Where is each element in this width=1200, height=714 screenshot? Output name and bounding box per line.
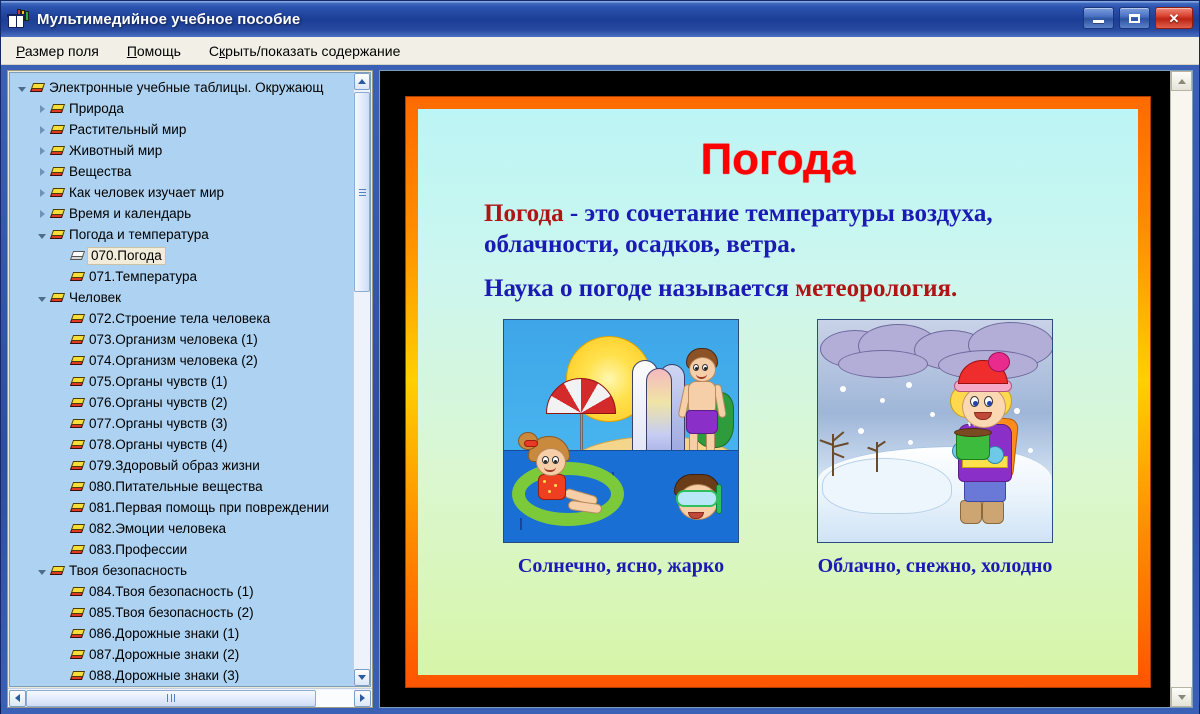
book-icon — [50, 229, 65, 241]
tree-item[interactable]: 078.Органы чувств (4) — [10, 434, 353, 455]
tree-item-label: 072.Строение тела человека — [89, 312, 270, 326]
tree-item-label: Как человек изучает мир — [69, 186, 224, 200]
chevron-up-icon — [1178, 79, 1186, 84]
book-icon — [70, 376, 85, 388]
tree-item-label: 078.Органы чувств (4) — [89, 438, 228, 452]
winter-caption: Облачно, снежно, холодно — [818, 555, 1053, 578]
book-icon — [50, 124, 65, 136]
contents-tree[interactable]: Электронные учебные таблицы. ОкружающПри… — [10, 73, 353, 686]
tree-scroll-down-button[interactable] — [354, 669, 370, 686]
tree-item-label: Погода и температура — [69, 228, 209, 242]
book-icon — [70, 544, 85, 556]
book-icon — [70, 481, 85, 493]
tree-hscroll-track[interactable] — [26, 690, 354, 707]
tree-item-label: Электронные учебные таблицы. Окружающ — [49, 81, 324, 95]
chevron-down-icon — [358, 675, 366, 680]
tree-item-label: 087.Дорожные знаки (2) — [89, 648, 239, 662]
tree-item-label: 075.Органы чувств (1) — [89, 375, 228, 389]
summer-caption: Солнечно, ясно, жарко — [518, 555, 724, 578]
book-icon — [70, 502, 85, 514]
close-icon: ✕ — [1169, 12, 1180, 25]
contents-panel: Электронные учебные таблицы. ОкружающПри… — [7, 70, 373, 708]
tree-vertical-scrollbar[interactable] — [353, 73, 370, 686]
tree-item[interactable]: Как человек изучает мир — [10, 182, 353, 203]
application-window: Мультимедийное учебное пособие ✕ Размер … — [0, 0, 1200, 703]
slide-viewer: Погода Погода - это сочетание температур… — [379, 70, 1193, 708]
slide-title: Погода — [701, 137, 856, 183]
window-controls: ✕ — [1083, 7, 1193, 29]
chevron-up-icon — [358, 79, 366, 84]
window-title: Мультимедийное учебное пособие — [37, 11, 300, 28]
tree-item-label: 070.Погода — [88, 248, 165, 264]
winter-snow-illustration — [817, 319, 1053, 543]
tree-item[interactable]: Электронные учебные таблицы. Окружающ — [10, 77, 353, 98]
tree-item-selected[interactable]: 070.Погода — [10, 245, 353, 266]
viewer-scroll-down-button[interactable] — [1171, 687, 1192, 707]
viewer-vertical-scrollbar[interactable] — [1170, 71, 1192, 707]
slide-paragraph-2: Наука о погоде называется метеорология. — [484, 274, 957, 305]
tree-item[interactable]: 084.Твоя безопасность (1) — [10, 581, 353, 602]
tree-item[interactable]: 082.Эмоции человека — [10, 518, 353, 539]
menu-field-size[interactable]: Размер поля — [13, 41, 102, 61]
open-book-icon — [70, 250, 85, 262]
tree-item-label: 071.Температура — [89, 270, 197, 284]
tree-scroll-track[interactable] — [354, 90, 370, 669]
tree-item-label: 080.Питательные вещества — [89, 480, 263, 494]
paragraph-1-highlight: Погода — [484, 200, 564, 227]
tree-item-label: 088.Дорожные знаки (3) — [89, 669, 239, 683]
chevron-right-icon — [360, 694, 365, 702]
book-icon — [50, 565, 65, 577]
slide-paragraph-1: Погода - это сочетание температуры возду… — [484, 199, 1120, 260]
girl-on-float-figure — [512, 432, 630, 528]
tree-item[interactable]: 079.Здоровый образ жизни — [10, 455, 353, 476]
book-icon — [70, 586, 85, 598]
tree-item[interactable]: 087.Дорожные знаки (2) — [10, 644, 353, 665]
expander-open-icon[interactable] — [36, 229, 48, 241]
tree-item[interactable]: 085.Твоя безопасность (2) — [10, 602, 353, 623]
book-icon — [30, 82, 45, 94]
tree-item-label: 074.Организм человека (2) — [89, 354, 258, 368]
tree-item[interactable]: 071.Температура — [10, 266, 353, 287]
book-icon — [70, 271, 85, 283]
book-icon — [8, 8, 30, 30]
maximize-icon — [1129, 14, 1140, 23]
tree-item[interactable]: 074.Организм человека (2) — [10, 350, 353, 371]
tree-item[interactable]: 072.Строение тела человека — [10, 308, 353, 329]
tree-scroll-left-button[interactable] — [9, 690, 26, 707]
tree-item[interactable]: 083.Профессии — [10, 539, 353, 560]
paragraph-2-highlight: метеорология. — [795, 275, 957, 302]
expander-closed-icon[interactable] — [36, 103, 48, 115]
tree-item-label: 073.Организм человека (1) — [89, 333, 258, 347]
diver-figure — [668, 474, 730, 532]
tree-item-label: 084.Твоя безопасность (1) — [89, 585, 254, 599]
book-icon — [70, 355, 85, 367]
tree-item[interactable]: 081.Первая помощь при повреждении — [10, 497, 353, 518]
book-icon — [50, 145, 65, 157]
tree-item[interactable]: 073.Организм человека (1) — [10, 329, 353, 350]
tree-item[interactable]: Вещества — [10, 161, 353, 182]
book-icon — [70, 460, 85, 472]
book-icon — [70, 397, 85, 409]
tree-item[interactable]: 086.Дорожные знаки (1) — [10, 623, 353, 644]
book-icon — [50, 166, 65, 178]
slide: Погода Погода - это сочетание температур… — [418, 109, 1138, 675]
book-icon — [50, 187, 65, 199]
book-icon — [70, 607, 85, 619]
tree-horizontal-scrollbar[interactable] — [8, 688, 372, 707]
picture-column-winter: Облачно, снежно, холодно — [817, 319, 1053, 578]
tree-item-label: 086.Дорожные знаки (1) — [89, 627, 239, 641]
book-icon — [70, 670, 85, 682]
tree-item[interactable]: Человек — [10, 287, 353, 308]
book-icon — [50, 292, 65, 304]
tree-item-label: Природа — [69, 102, 124, 116]
tree-item-label: Животный мир — [69, 144, 162, 158]
tree-item-label: 076.Органы чувств (2) — [89, 396, 228, 410]
grip-icon — [167, 694, 175, 702]
tree-hscroll-thumb[interactable] — [26, 690, 316, 707]
umbrella-icon — [546, 378, 616, 416]
expander-open-icon[interactable] — [16, 82, 28, 94]
tree-item-label: 081.Первая помощь при повреждении — [89, 501, 329, 515]
book-icon — [70, 439, 85, 451]
slide-frame: Погода Погода - это сочетание температур… — [406, 97, 1150, 687]
expander-closed-icon[interactable] — [36, 208, 48, 220]
tree-item-label: Растительный мир — [69, 123, 186, 137]
tree-item-label: 079.Здоровый образ жизни — [89, 459, 260, 473]
grip-icon — [359, 189, 366, 196]
paragraph-2-lead: Наука о погоде называется — [484, 275, 795, 302]
tree-container: Электронные учебные таблицы. ОкружающПри… — [9, 72, 371, 687]
tree-item[interactable]: Погода и температура — [10, 224, 353, 245]
diving-mask-icon — [676, 490, 718, 507]
viewer-scroll-up-button[interactable] — [1171, 71, 1192, 91]
book-icon — [70, 418, 85, 430]
menu-bar: Размер поляПомощьСкрыть/показать содержа… — [1, 37, 1199, 65]
tree-item[interactable]: Твоя безопасность — [10, 560, 353, 581]
tree-item-label: Вещества — [69, 165, 131, 179]
tree-item[interactable]: 088.Дорожные знаки (3) — [10, 665, 353, 686]
access-key: П — [127, 43, 137, 59]
chevron-left-icon — [15, 694, 20, 702]
winter-girl-figure — [934, 360, 1022, 526]
book-icon — [70, 313, 85, 325]
tree-item-label: Твоя безопасность — [69, 564, 187, 578]
tree-item[interactable]: Растительный мир — [10, 119, 353, 140]
close-button[interactable]: ✕ — [1155, 7, 1193, 29]
expander-open-icon[interactable] — [36, 565, 48, 577]
expander-closed-icon[interactable] — [36, 187, 48, 199]
tree-scroll-thumb[interactable] — [354, 92, 370, 292]
tree-item[interactable]: 076.Органы чувств (2) — [10, 392, 353, 413]
slide-pictures: Солнечно, ясно, жарко — [503, 319, 1053, 578]
tree-item[interactable]: Время и календарь — [10, 203, 353, 224]
book-icon — [70, 649, 85, 661]
title-bar: Мультимедийное учебное пособие ✕ — [1, 1, 1199, 37]
expander-open-icon[interactable] — [36, 292, 48, 304]
tree-item-label: 085.Твоя безопасность (2) — [89, 606, 254, 620]
tree-scroll-up-button[interactable] — [354, 73, 370, 90]
tree-item[interactable]: 080.Питательные вещества — [10, 476, 353, 497]
tree-scroll-right-button[interactable] — [354, 690, 371, 707]
book-icon — [70, 523, 85, 535]
menu-help[interactable]: Помощь — [124, 41, 184, 61]
expander-closed-icon[interactable] — [36, 166, 48, 178]
minimize-button[interactable] — [1083, 7, 1114, 29]
chevron-down-icon — [1178, 695, 1186, 700]
expander-closed-icon[interactable] — [36, 145, 48, 157]
tree-item-label: Время и календарь — [69, 207, 191, 221]
tree-item-label: Человек — [69, 291, 121, 305]
tree-item-label: 083.Профессии — [89, 543, 187, 557]
tree-item-label: 082.Эмоции человека — [89, 522, 226, 536]
summer-beach-illustration — [503, 319, 739, 543]
tree-item[interactable]: Природа — [10, 98, 353, 119]
book-icon — [70, 628, 85, 640]
expander-closed-icon[interactable] — [36, 124, 48, 136]
tree-item[interactable]: 077.Органы чувств (3) — [10, 413, 353, 434]
book-icon — [70, 334, 85, 346]
minimize-icon — [1093, 20, 1104, 23]
maximize-button[interactable] — [1119, 7, 1150, 29]
window-body: Электронные учебные таблицы. ОкружающПри… — [1, 65, 1199, 714]
access-key: Р — [16, 43, 25, 59]
picture-column-summer: Солнечно, ясно, жарко — [503, 319, 739, 578]
menu-toggle-contents[interactable]: Скрыть/показать содержание — [206, 41, 403, 61]
slide-stage: Погода Погода - это сочетание температур… — [380, 71, 1170, 707]
tree-item-label: 077.Органы чувств (3) — [89, 417, 228, 431]
book-icon — [50, 103, 65, 115]
book-icon — [50, 208, 65, 220]
tree-item[interactable]: 075.Органы чувств (1) — [10, 371, 353, 392]
tree-item[interactable]: Животный мир — [10, 140, 353, 161]
